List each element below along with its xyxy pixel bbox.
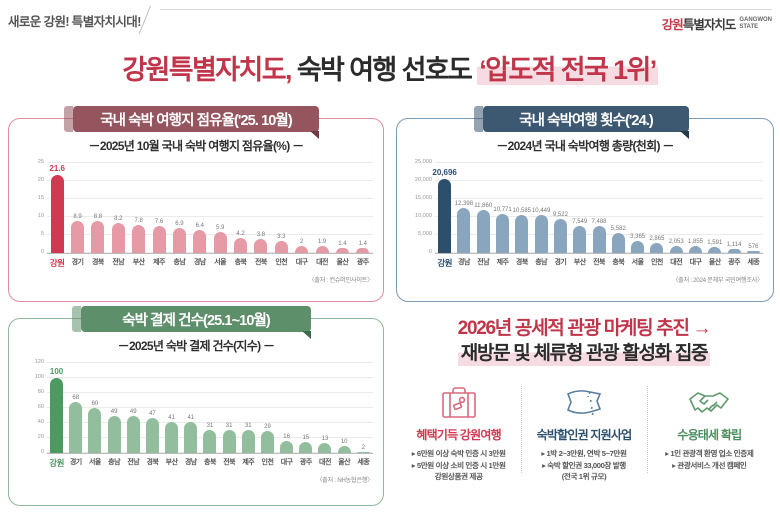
promo-bullet: ▸ 6만원 이상 숙박 인증 시 3만원	[412, 448, 506, 460]
bar	[670, 246, 683, 253]
x-axis-tick-label: 경남	[181, 457, 200, 469]
panel-banner-payments: 숙박 결제 건수(25.1~10월)	[81, 306, 311, 332]
x-axis-tick-label: 대구	[277, 457, 296, 469]
bar	[132, 225, 145, 253]
logo-en-line2: STATE	[739, 24, 758, 30]
x-axis-tick-label: 강원	[47, 257, 67, 269]
bar-item: 31	[220, 363, 239, 453]
bar-item: 10	[335, 363, 354, 453]
y-axis-tick-label: 15	[38, 195, 44, 201]
bar-series: 21.68.98.88.27.87.66.96.45.94.23.83.321.…	[47, 163, 373, 253]
y-axis-tick-label: 15,000	[415, 195, 432, 201]
bar-value-label: 3,365	[630, 234, 645, 240]
plot-area: 05,00010,00015,00020,00025,00020,69612,3…	[435, 163, 763, 254]
promo-bullet: ▸ 1인 관광객 환영 업소 인증제	[665, 448, 753, 460]
bar	[316, 246, 329, 253]
bar-item: 8.2	[108, 163, 128, 253]
bar	[356, 248, 369, 253]
bar-item: 2,865	[647, 163, 666, 253]
x-axis-tick-label: 충북	[609, 257, 628, 269]
logo-en-line1: GANGWON	[739, 17, 772, 23]
x-axis-tick-label: 대전	[667, 257, 686, 269]
handshake-icon	[686, 382, 732, 424]
bar-value-label: 5.9	[216, 225, 224, 231]
bar	[223, 430, 236, 453]
promo-bullet: 강원상품권 제공	[412, 471, 506, 483]
bar-item: 1.9	[312, 163, 332, 253]
bar-value-label: 21.6	[49, 164, 65, 173]
chart-source-trip-count: 〈출처 : 2024 문체부 국민여행조사〉	[672, 275, 763, 284]
banner-cap	[64, 106, 73, 132]
bar-item: 3.3	[271, 163, 291, 253]
bar-item: 16	[277, 363, 296, 453]
header-divider	[160, 9, 772, 10]
bar	[535, 215, 548, 253]
x-axis-labels: 강원경남전남제주경북충남경기부산전북충북서울인천대전대구울산광주세종	[435, 257, 763, 269]
bar	[91, 221, 104, 253]
bar-item: 47	[143, 363, 162, 453]
bar	[234, 238, 247, 253]
bar	[299, 442, 312, 453]
promo-bullet: ▸ 숙박 할인권 33,000장 발행	[541, 460, 626, 472]
y-axis-tick-label: 25	[38, 159, 44, 165]
bar-value-label: 10,449	[532, 208, 550, 214]
bar-item: 21.6	[47, 163, 67, 253]
bar-item: 3.8	[251, 163, 271, 253]
bar	[295, 246, 308, 253]
y-axis-tick-label: 25,000	[415, 159, 432, 165]
bar-value-label: 41	[187, 415, 194, 421]
x-axis-labels: 강원경기서울충남전남경북부산경남충북전북제주인천대구광주대전울산세종	[47, 457, 373, 469]
bar-value-label: 2,865	[649, 236, 664, 242]
x-axis-tick-label: 전남	[124, 457, 143, 469]
x-axis-tick-label: 광주	[353, 257, 373, 269]
x-axis-tick-label: 울산	[332, 257, 352, 269]
x-axis-tick-label: 제주	[149, 257, 169, 269]
bar-value-label: 3.8	[257, 232, 265, 238]
bar-value-label: 29	[264, 424, 271, 430]
promo-column-benefit-travel: 혜택기득 강원여행 ▸ 6만원 이상 숙박 인증 시 3만원 ▸ 5만원 이상 …	[396, 382, 521, 483]
y-axis-tick-label: 100	[35, 374, 44, 380]
bar-value-label: 7,549	[572, 219, 587, 225]
bar-item: 576	[744, 163, 763, 253]
x-axis-tick-label: 충남	[169, 257, 189, 269]
bar-value-label: 31	[245, 423, 252, 429]
bar-value-label: 1,855	[688, 239, 703, 245]
bar	[203, 430, 216, 453]
bar-item: 49	[124, 363, 143, 453]
bar	[496, 214, 509, 253]
bar-value-label: 16	[283, 434, 290, 440]
chart-trip-count: 05,00010,00015,00020,00025,00020,69612,3…	[405, 159, 767, 293]
bar-value-label: 31	[226, 423, 233, 429]
bar-item: 10,585	[512, 163, 531, 253]
bar-value-label: 1.9	[318, 239, 326, 245]
bar-value-label: 4.2	[236, 231, 244, 237]
x-axis-tick-label: 전남	[474, 257, 493, 269]
y-axis-tick-label: 120	[35, 359, 44, 365]
bar	[165, 422, 178, 453]
bar	[254, 239, 267, 253]
infographic-page: 새로운 강원! 특별자치시대! 강원특별자치도 GANGWON STATE 강원…	[0, 0, 780, 514]
x-axis-tick-label: 경기	[66, 457, 85, 469]
y-axis-tick-label: 5,000	[418, 231, 432, 237]
bar-item: 12,398	[454, 163, 473, 253]
bar-item: 20,696	[435, 163, 454, 253]
bar-value-label: 49	[111, 409, 118, 415]
page-header: 새로운 강원! 특별자치시대! 강원특별자치도 GANGWON STATE	[0, 0, 780, 40]
bar-series: 1006860494947414131313129161513102	[47, 363, 373, 453]
bar-value-label: 10	[341, 439, 348, 445]
chart-panel-payments: 숙박 결제 건수(25.1~10월) －2025년 숙박 결제 건수(지수) －…	[8, 318, 384, 506]
bar-value-label: 6.4	[196, 223, 204, 229]
bar-item: 2	[292, 163, 312, 253]
bar-value-label: 15	[302, 435, 309, 441]
x-axis-tick-label: 광주	[296, 457, 315, 469]
x-axis-tick-label: 대전	[312, 257, 332, 269]
logo-korean-text: 강원특별자치도	[662, 14, 736, 33]
bar-value-label: 8.9	[73, 214, 81, 220]
bar-value-label: 20,696	[432, 168, 456, 177]
y-axis-tick-label: 60	[38, 404, 44, 410]
x-axis-tick-label: 경북	[512, 257, 531, 269]
y-axis-tick-label: 0	[41, 249, 44, 255]
bar-item: 100	[47, 363, 66, 453]
bar	[112, 223, 125, 253]
bar-value-label: 3.3	[277, 234, 285, 240]
bar	[280, 441, 293, 453]
x-axis-tick-label: 전북	[220, 457, 239, 469]
bar	[515, 215, 528, 253]
bar	[184, 422, 197, 453]
x-axis-tick-label: 세종	[744, 257, 763, 269]
bar-value-label: 1,114	[727, 242, 742, 248]
x-axis-tick-label: 경북	[88, 257, 108, 269]
chart-subtitle-payments: －2025년 숙박 결제 건수(지수) －	[9, 337, 383, 354]
page-title: 강원특별자치도, 숙박 여행 선호도 ‘압도적 전국 1위’	[0, 48, 780, 87]
x-axis-tick-label: 서울	[85, 457, 104, 469]
chart-occupancy: 051015202521.68.98.88.27.87.66.96.45.94.…	[17, 159, 377, 293]
bar-value-label: 41	[168, 415, 175, 421]
promo-line-2: 재방문 및 체류형 관광 활성화 집중	[458, 341, 710, 366]
bar-item: 3,365	[628, 163, 647, 253]
bar-value-label: 6.9	[175, 221, 183, 227]
x-axis-tick-label: 대구	[292, 257, 312, 269]
bar-value-label: 1.4	[359, 241, 367, 247]
x-axis-tick-label: 경기	[551, 257, 570, 269]
promo-column-discount-voucher: 숙박할인권 지원사업 ▸ 1박 2~3만원, 연박 5~7만원 ▸ 숙박 할인권…	[521, 382, 646, 483]
x-axis-tick-label: 부산	[570, 257, 589, 269]
y-axis-tick-label: 0	[429, 249, 432, 255]
bar-value-label: 8.8	[94, 214, 102, 220]
banner-label: 국내 숙박여행 횟수('24.)	[519, 109, 653, 130]
bar	[336, 248, 349, 253]
bar-item: 7.6	[149, 163, 169, 253]
x-axis-tick-label: 충북	[230, 257, 250, 269]
bar-value-label: 7.6	[155, 219, 163, 225]
bar-value-label: 7.8	[135, 218, 143, 224]
bar-item: 9,522	[551, 163, 570, 253]
bar-value-label: 10,771	[493, 207, 511, 213]
promo-section: 2026년 공세적 관광 마케팅 추진 → 재방문 및 체류형 관광 활성화 집…	[396, 316, 772, 512]
bar-item: 41	[181, 363, 200, 453]
bar	[457, 208, 470, 253]
panel-banner-trip-count: 국내 숙박여행 횟수('24.)	[483, 106, 689, 132]
y-axis-tick-label: 10	[38, 213, 44, 219]
x-axis-tick-label: 부산	[129, 257, 149, 269]
y-axis-tick-label: 20,000	[415, 177, 432, 183]
bar	[650, 243, 663, 253]
x-axis-tick-label: 인천	[258, 457, 277, 469]
chart-source-payments: 〈출처 : NH농협은행〉	[316, 475, 373, 484]
bar-value-label: 1.4	[338, 241, 346, 247]
bar	[593, 226, 606, 253]
bar-item: 6.9	[169, 163, 189, 253]
promo-line-1: 2026년 공세적 관광 마케팅 추진 →	[458, 318, 711, 339]
bar-item: 1.4	[353, 163, 373, 253]
bar-value-label: 2,053	[669, 239, 684, 245]
bar-item: 41	[162, 363, 181, 453]
bar	[242, 430, 255, 453]
bar	[631, 241, 644, 253]
bar-item: 29	[258, 363, 277, 453]
bar	[88, 408, 101, 453]
x-axis-tick-label: 인천	[647, 257, 666, 269]
promo-bullet: (전국 1위 규모)	[541, 471, 626, 483]
x-axis-tick-label: 제주	[493, 257, 512, 269]
promo-column-lines: ▸ 1박 2~3만원, 연박 5~7만원 ▸ 숙박 할인권 33,000장 발행…	[541, 448, 626, 483]
plot-area: 051015202521.68.98.88.27.87.66.96.45.94.…	[47, 163, 373, 254]
bar-value-label: 68	[72, 395, 79, 401]
bar-item: 8.9	[67, 163, 87, 253]
x-axis-tick-label: 대전	[315, 457, 334, 469]
x-axis-tick-label: 경남	[190, 257, 210, 269]
bar-item: 11,860	[474, 163, 493, 253]
panel-banner-occupancy: 국내 숙박 여행지 점유율('25. 10월)	[73, 106, 319, 132]
y-axis-tick-label: 20	[38, 177, 44, 183]
bar-item: 2,053	[667, 163, 686, 253]
bar	[127, 416, 140, 453]
y-axis-tick-label: 5	[41, 231, 44, 237]
bar-item: 15	[296, 363, 315, 453]
promo-heading: 2026년 공세적 관광 마케팅 추진 → 재방문 및 체류형 관광 활성화 집…	[396, 316, 772, 366]
bar-value-label: 11,860	[474, 203, 492, 209]
promo-column-title: 숙박할인권 지원사업	[537, 426, 632, 443]
bar	[50, 378, 63, 453]
bar-item: 7.8	[129, 163, 149, 253]
x-axis-tick-label: 제주	[239, 457, 258, 469]
bar-value-label: 47	[149, 411, 156, 417]
x-axis-tick-label: 인천	[271, 257, 291, 269]
ticket-icon	[562, 382, 606, 424]
bar	[214, 232, 227, 253]
bar-value-label: 1,591	[707, 240, 722, 246]
bar	[261, 431, 274, 453]
x-axis-tick-label: 충남	[105, 457, 124, 469]
x-axis-tick-label: 부산	[162, 457, 181, 469]
bar-value-label: 13	[322, 436, 329, 442]
bar-item: 2	[354, 363, 373, 453]
banner-cap	[474, 106, 483, 132]
chart-payments: 0204060801001201006860494947414131313129…	[17, 359, 377, 497]
bar-value-label: 31	[207, 423, 214, 429]
bar	[69, 402, 82, 453]
bar-value-label: 49	[130, 409, 137, 415]
bar	[318, 443, 331, 453]
bar	[573, 226, 586, 253]
chart-subtitle-occupancy: －2025년 10월 국내 숙박 여행지 점유율(%) －	[9, 137, 383, 154]
bar	[708, 247, 721, 253]
bar-item: 31	[239, 363, 258, 453]
x-axis-tick-label: 광주	[724, 257, 743, 269]
promo-column-readiness: 수용태세 확립 ▸ 1인 관광객 환영 업소 인증제 ▸ 관광서비스 개선 캠페…	[647, 382, 772, 483]
y-axis-tick-label: 10,000	[415, 213, 432, 219]
promo-column-title: 혜택기득 강원여행	[416, 426, 500, 443]
bar-value-label: 5,582	[611, 226, 626, 232]
bar-item: 60	[85, 363, 104, 453]
bar	[554, 219, 567, 253]
bar-item: 1,114	[724, 163, 743, 253]
y-axis-tick-label: 80	[38, 389, 44, 395]
bar-value-label: 2	[300, 239, 303, 245]
bar-item: 7,549	[570, 163, 589, 253]
x-axis-tick-label: 충북	[200, 457, 219, 469]
bar	[689, 246, 702, 253]
chart-panel-trip-count: 국내 숙박여행 횟수('24.) －2024년 국내 숙박여행 총량(천회) －…	[396, 118, 774, 302]
banner-cap	[72, 306, 81, 332]
x-axis-tick-label: 울산	[705, 257, 724, 269]
bar	[612, 233, 625, 253]
bar	[193, 230, 206, 253]
x-axis-tick-label: 대구	[686, 257, 705, 269]
bar	[51, 175, 64, 253]
bar-value-label: 576	[748, 244, 758, 250]
x-axis-tick-label: 서울	[210, 257, 230, 269]
x-axis-tick-label: 충남	[531, 257, 550, 269]
bar-item: 5,582	[609, 163, 628, 253]
x-axis-tick-label: 강원	[435, 257, 454, 269]
title-part-2: 숙박 여행 선호도	[297, 55, 471, 85]
logo-english-text: GANGWON STATE	[739, 17, 772, 31]
promo-bullet: ▸ 관광서비스 개선 캠페인	[665, 460, 753, 472]
bar-value-label: 10,585	[513, 208, 531, 214]
bar	[438, 179, 451, 254]
promo-column-title: 수용태세 확립	[677, 426, 741, 443]
bar-item: 1.4	[332, 163, 352, 253]
bar	[728, 249, 741, 253]
bar-value-label: 60	[92, 401, 99, 407]
title-part-1: 강원특별자치도,	[122, 55, 291, 85]
bar	[173, 228, 186, 253]
bar-item: 1,855	[686, 163, 705, 253]
promo-columns: 혜택기득 강원여행 ▸ 6만원 이상 숙박 인증 시 3만원 ▸ 5만원 이상 …	[396, 382, 772, 483]
bar	[71, 221, 84, 253]
y-axis-tick-label: 40	[38, 419, 44, 425]
bar-item: 10,771	[493, 163, 512, 253]
suitcase-icon	[438, 382, 480, 424]
bar	[275, 241, 288, 253]
banner-label: 국내 숙박 여행지 점유율('25. 10월)	[100, 109, 292, 130]
promo-column-lines: ▸ 6만원 이상 숙박 인증 시 3만원 ▸ 5만원 이상 소비 인증 시 1만…	[412, 448, 506, 483]
x-axis-tick-label: 울산	[335, 457, 354, 469]
bar-item: 13	[315, 363, 334, 453]
bar-value-label: 2	[362, 445, 365, 451]
bar-item: 10,449	[531, 163, 550, 253]
bar-value-label: 12,398	[455, 201, 473, 207]
bar-value-label: 7,488	[592, 219, 607, 225]
bar-item: 4.2	[230, 163, 250, 253]
bar-series: 20,69612,39811,86010,77110,58510,4499,52…	[435, 163, 763, 253]
bar-item: 1,591	[705, 163, 724, 253]
bar-item: 5.9	[210, 163, 230, 253]
x-axis-tick-label: 세종	[354, 457, 373, 469]
x-axis-tick-label: 서울	[628, 257, 647, 269]
y-axis-tick-label: 20	[38, 434, 44, 440]
bar-item: 68	[66, 363, 85, 453]
bar	[108, 416, 121, 453]
chart-subtitle-trip-count: －2024년 국내 숙박여행 총량(천회) －	[397, 137, 773, 154]
bar	[338, 446, 351, 454]
x-axis-tick-label: 전남	[108, 257, 128, 269]
bar-item: 8.8	[88, 163, 108, 253]
gangwon-state-logo: 강원특별자치도 GANGWON STATE	[662, 14, 772, 33]
bar	[146, 418, 159, 453]
plot-area: 0204060801001201006860494947414131313129…	[47, 363, 373, 454]
x-axis-tick-label: 경남	[454, 257, 473, 269]
banner-label: 숙박 결제 건수(25.1~10월)	[122, 309, 270, 330]
x-axis-tick-label: 전북	[589, 257, 608, 269]
bar-value-label: 100	[50, 367, 63, 376]
bar-item: 31	[200, 363, 219, 453]
bar	[477, 210, 490, 253]
bar-value-label: 8.2	[114, 216, 122, 222]
header-tagline: 새로운 강원! 특별자치시대!	[8, 11, 141, 30]
bar	[153, 226, 166, 253]
promo-bullet: ▸ 1박 2~3만원, 연박 5~7만원	[541, 448, 626, 460]
y-axis-tick-label: 0	[41, 449, 44, 455]
bar-item: 6.4	[190, 163, 210, 253]
promo-column-lines: ▸ 1인 관광객 환영 업소 인증제 ▸ 관광서비스 개선 캠페인	[665, 448, 753, 471]
title-highlight: ‘압도적 전국 1위’	[477, 55, 657, 85]
x-axis-labels: 강원경기경북전남부산제주충남경남서울충북전북인천대구대전울산광주	[47, 257, 373, 269]
chart-panel-occupancy: 국내 숙박 여행지 점유율('25. 10월) －2025년 10월 국내 숙박…	[8, 118, 384, 302]
bar-item: 7,488	[589, 163, 608, 253]
x-axis-tick-label: 경북	[143, 457, 162, 469]
promo-bullet: ▸ 5만원 이상 소비 인증 시 1만원	[412, 460, 506, 472]
bar-item: 49	[105, 363, 124, 453]
x-axis-tick-label: 강원	[47, 457, 66, 469]
chart-source-occupancy: 〈출처 : 컨슈머인사이트〉	[308, 275, 373, 284]
bar	[747, 251, 760, 253]
bar-value-label: 9,522	[553, 212, 568, 218]
x-axis-tick-label: 경기	[67, 257, 87, 269]
bar	[357, 452, 370, 454]
x-axis-tick-label: 전북	[251, 257, 271, 269]
